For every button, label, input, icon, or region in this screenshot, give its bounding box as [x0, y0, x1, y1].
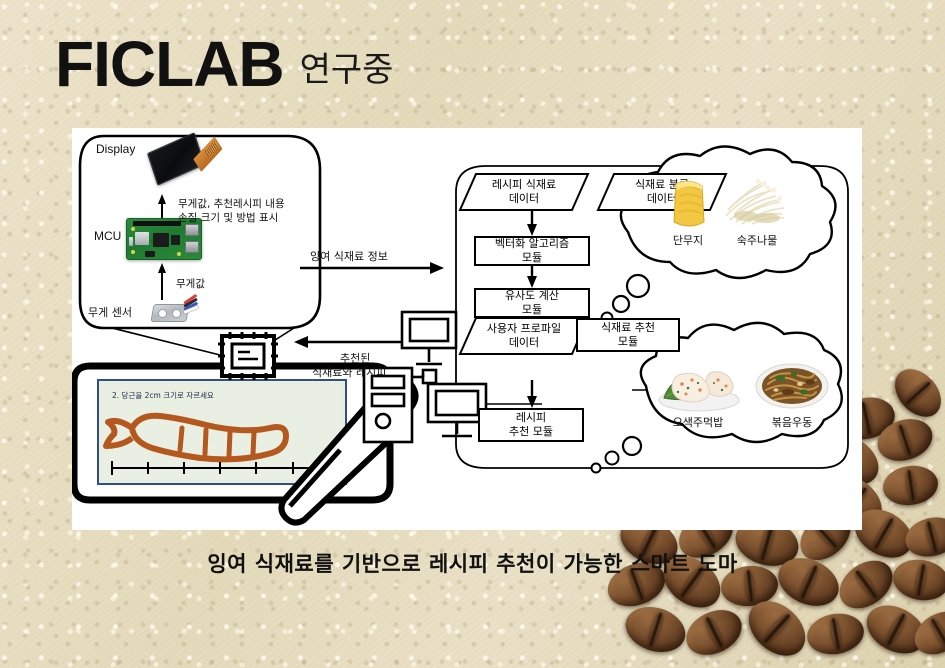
module-line2: 모듈 [618, 335, 638, 349]
brand-subtitle: 연구중 [300, 42, 394, 91]
display-arrow-label-line1: 무게값, 추천레시피 내용 [178, 196, 285, 211]
module-line1: 레시피 [516, 411, 546, 425]
data-source-recipe-ingredient: 레시피 식재료 데이터 [460, 174, 588, 210]
downlink-arrow-label-line2: 식재료와 레시피 [312, 364, 386, 380]
data-source-user-profile: 사용자 프로파일 데이터 [460, 318, 588, 354]
food-label-onigiri: 오색주먹밥 [654, 414, 742, 430]
load-cell-icon [150, 300, 192, 326]
module-line1: 벡터화 알고리즘 [495, 237, 569, 251]
data-source-line1: 레시피 식재료 [492, 178, 556, 192]
module-ingredient-recommend: 식재료 추천 모듈 [576, 318, 680, 352]
module-line1: 식재료 추천 [601, 321, 655, 335]
uplink-arrow-label: 잉여 식재료 정보 [310, 248, 388, 264]
fried-udon-icon [754, 352, 830, 410]
lcd-module-icon [150, 142, 202, 176]
module-line2: 추천 모듈 [509, 425, 553, 439]
module-line2: 모듈 [522, 251, 542, 265]
food-label-fried-udon: 볶음우동 [756, 414, 828, 430]
module-line1: 유사도 계산 [505, 289, 559, 303]
data-source-line2: 데이터 [509, 192, 539, 206]
onigiri-icon [656, 350, 742, 412]
weight-sensor-label: 무게 센서 [88, 304, 132, 320]
sensor-arrow-label: 무게값 [176, 276, 205, 291]
diagram-panel: Display MCU 무게 센서 무게값, 추천레시피 내용 손질 크기 및 … [72, 128, 862, 530]
display-arrow-label-line2: 손질 크기 및 방법 표시 [178, 210, 278, 225]
mcu-label: MCU [94, 229, 121, 243]
slide-title: FICLAB 연구중 [55, 34, 393, 95]
display-label: Display [96, 142, 135, 156]
module-similarity: 유사도 계산 모듈 [474, 288, 590, 318]
caption-text: 잉여 식재료를 기반으로 레시피 추천이 가능한 스마트 도마 [207, 552, 737, 576]
data-source-line1: 사용자 프로파일 [487, 322, 561, 336]
food-label-bean-sprouts: 숙주나물 [726, 232, 788, 248]
data-source-line2: 데이터 [509, 336, 539, 350]
brand-name: FICLAB [55, 34, 284, 95]
bean-sprouts-icon [722, 176, 788, 228]
module-recipe-recommend: 레시피 추천 모듈 [478, 408, 584, 442]
module-line2: 모듈 [522, 303, 542, 317]
food-label-danmuji: 단무지 [662, 232, 714, 248]
slide-caption: 잉여 식재료를 기반으로 레시피 추천이 가능한 스마트 도마 [0, 548, 945, 578]
danmuji-icon [660, 176, 714, 232]
cutting-board-instruction: 2. 당근을 2cm 크기로 자르세요 [112, 390, 214, 401]
module-vectorization: 벡터화 알고리즘 모듈 [474, 236, 590, 266]
